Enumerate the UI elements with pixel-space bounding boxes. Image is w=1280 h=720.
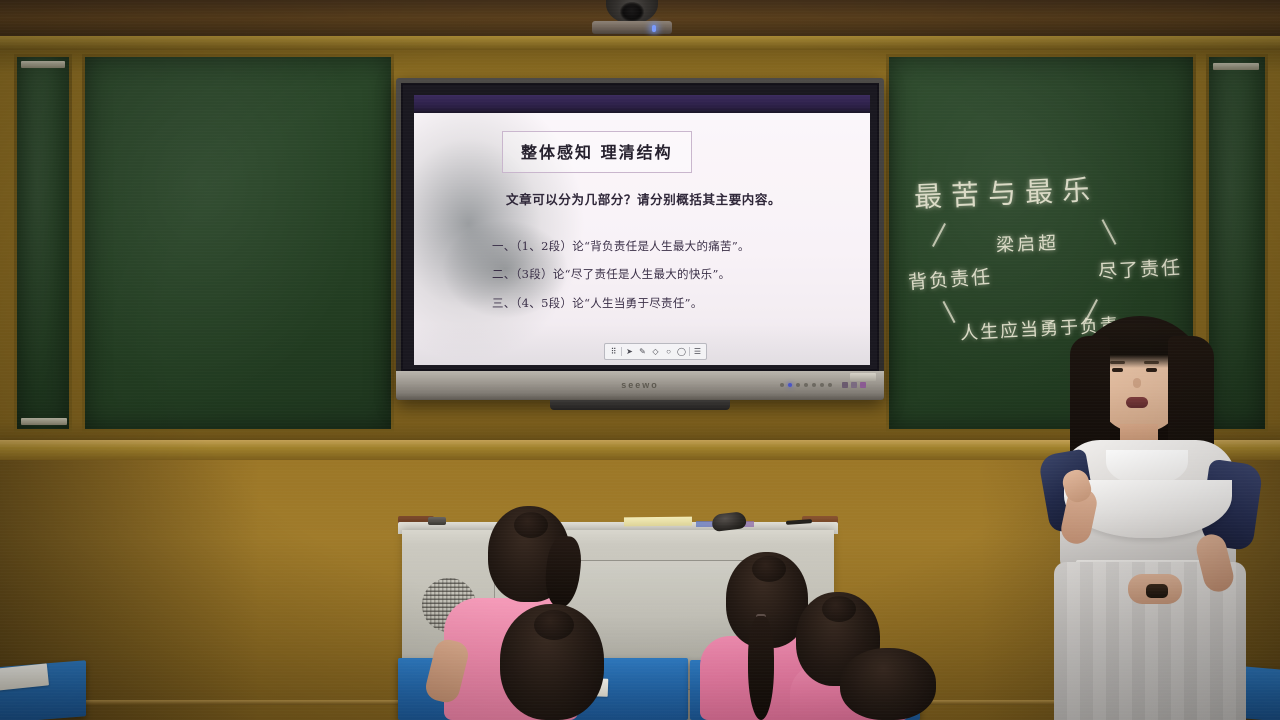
pen-icon[interactable]: ✎ bbox=[637, 346, 648, 357]
circle-shape-icon[interactable]: ○ bbox=[663, 346, 674, 357]
ceiling-ptz-camera bbox=[592, 0, 672, 38]
teacher bbox=[1020, 312, 1270, 720]
slide-title-box: 整体感知 理清结构 bbox=[502, 131, 692, 173]
student-head bbox=[840, 648, 936, 720]
audio-port-icon[interactable] bbox=[860, 382, 866, 388]
student-hair-bun bbox=[822, 596, 856, 622]
indicator-dot bbox=[812, 383, 816, 387]
classroom-scene: 最苦与最乐 梁启超 背负责任 尽了责任 人生应当勇于负责 整体感知 理清结构 文… bbox=[0, 0, 1280, 720]
oval-shape-icon[interactable]: ◯ bbox=[676, 346, 687, 357]
grip-handle-icon[interactable]: ⠿ bbox=[608, 346, 619, 357]
slide-point-3: 三、（4、5段）论“人生当勇于尽责任”。 bbox=[492, 296, 832, 310]
blackboard-left-strip bbox=[14, 54, 72, 432]
interactive-smartboard[interactable]: 整体感知 理清结构 文章可以分为几部分？请分别概括其主要内容。 一、（1、2段）… bbox=[396, 78, 884, 400]
cursor-arrow-icon[interactable]: ➤ bbox=[624, 346, 635, 357]
student-hair-bun bbox=[534, 610, 574, 640]
podium-cable-clip bbox=[428, 517, 446, 525]
toolbar-divider bbox=[621, 347, 622, 356]
hdmi-port-icon[interactable] bbox=[851, 382, 857, 388]
smartboard-screen[interactable]: 整体感知 理清结构 文章可以分为几部分？请分别概括其主要内容。 一、（1、2段）… bbox=[414, 113, 870, 365]
smartboard-brand-label: seewo bbox=[621, 380, 659, 390]
chalk-lesson-title: 最苦与最乐 bbox=[913, 168, 1100, 216]
teacher-eye-left bbox=[1112, 368, 1123, 372]
slide-points-list: 一、（1、2段）论“背负责任是人生最大的痛苦”。 二、（3段）论“尽了责任是人生… bbox=[492, 239, 832, 324]
blackboard-top-rail bbox=[0, 36, 1280, 50]
teacher-nose bbox=[1133, 378, 1141, 388]
indicator-dot bbox=[796, 383, 800, 387]
slide-point-2: 二、（3段）论“尽了责任是人生最大的快乐”。 bbox=[492, 267, 832, 281]
presentation-clicker[interactable] bbox=[1146, 584, 1168, 598]
student-ponytail bbox=[748, 616, 774, 720]
chalk-tray-lower-left bbox=[21, 418, 67, 425]
smartboard-display-frame: 整体感知 理清结构 文章可以分为几部分？请分别概括其主要内容。 一、（1、2段）… bbox=[401, 83, 879, 371]
student-hair-bun bbox=[752, 556, 786, 582]
teacher-eye-right bbox=[1146, 368, 1157, 372]
smartboard-bezel: seewo bbox=[396, 371, 884, 400]
smartboard-side-tag bbox=[850, 373, 876, 381]
smartboard-top-glow bbox=[414, 95, 870, 115]
teacher-eyebrow-right bbox=[1144, 361, 1159, 364]
smartboard-indicator-dots bbox=[780, 383, 832, 387]
camera-led-indicator bbox=[652, 25, 656, 32]
indicator-dot bbox=[804, 383, 808, 387]
camera-lens-icon bbox=[620, 2, 644, 22]
teacher-mouth bbox=[1126, 397, 1148, 408]
student-hair-bun bbox=[514, 512, 548, 538]
indicator-dot bbox=[828, 383, 832, 387]
chalk-tray-upper-right bbox=[1213, 63, 1259, 70]
teacher-eyebrow-left bbox=[1110, 361, 1125, 364]
smartboard-ports[interactable] bbox=[842, 382, 866, 388]
chalk-author-name: 梁启超 bbox=[996, 229, 1060, 257]
power-indicator-dot bbox=[788, 383, 792, 387]
slide-title: 整体感知 理清结构 bbox=[521, 139, 673, 163]
menu-list-icon[interactable]: ☰ bbox=[692, 346, 703, 357]
slide-point-1: 一、（1、2段）论“背负责任是人生最大的痛苦”。 bbox=[492, 239, 832, 253]
indicator-dot bbox=[820, 383, 824, 387]
chalk-tray-upper-left bbox=[21, 61, 65, 68]
indicator-dot bbox=[780, 383, 784, 387]
smartboard-stand bbox=[550, 400, 730, 410]
floating-annotation-toolbar[interactable]: ⠿ ➤ ✎ ◇ ○ ◯ ☰ bbox=[604, 343, 707, 360]
usb-port-icon[interactable] bbox=[842, 382, 848, 388]
toolbar-divider-2 bbox=[689, 347, 690, 356]
camera-mount bbox=[592, 21, 672, 34]
slide-question-text: 文章可以分为几部分？请分别概括其主要内容。 bbox=[506, 191, 802, 209]
blackboard-left-main bbox=[82, 54, 394, 432]
chalk-branch-right: 尽了责任 bbox=[1097, 253, 1182, 284]
yellow-notebook[interactable] bbox=[624, 517, 692, 527]
eraser-icon[interactable]: ◇ bbox=[650, 346, 661, 357]
